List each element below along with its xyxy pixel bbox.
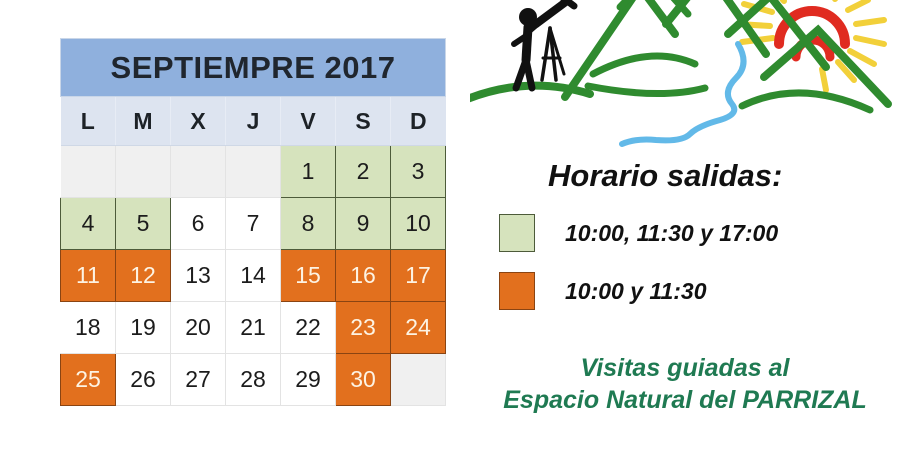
calendar-day-1[interactable]: 1 [281,146,336,198]
legend-label-green: 10:00, 11:30 y 17:00 [565,220,778,247]
legend-item-orange: 10:00 y 11:30 [499,272,707,310]
calendar-dayofweek-4: V [281,97,336,146]
calendar-day-27[interactable]: 27 [171,354,226,406]
month-title-text: SEPTIEMPRE 2017 [111,50,396,85]
mountains-river-sun-observer-logo [470,0,900,147]
visit-caption: Visitas guiadas al Espacio Natural del P… [470,352,900,416]
calendar-day-7[interactable]: 7 [226,198,281,250]
calendar-day-24[interactable]: 24 [391,302,446,354]
legend-swatch-orange-icon [499,272,535,310]
schedule-heading: Horario salidas: [548,158,782,194]
calendar-day-25[interactable]: 25 [61,354,116,406]
calendar-day-19[interactable]: 19 [116,302,171,354]
calendar-week-row: 252627282930 [61,354,446,406]
calendar-day-empty [391,354,446,406]
calendar-day-26[interactable]: 26 [116,354,171,406]
calendar-dayofweek-5: S [336,97,391,146]
calendar-week-row: 18192021222324 [61,302,446,354]
calendar-title-row: SEPTIEMPRE 2017 [61,39,446,97]
observer-with-telescope-icon [514,0,574,88]
calendar-day-empty [226,146,281,198]
calendar-day-6[interactable]: 6 [171,198,226,250]
calendar-day-9[interactable]: 9 [336,198,391,250]
calendar-day-13[interactable]: 13 [171,250,226,302]
visit-caption-line2: Espacio Natural del PARRIZAL [470,384,900,416]
calendar-day-11[interactable]: 11 [61,250,116,302]
calendar-day-29[interactable]: 29 [281,354,336,406]
calendar-dayofweek-3: J [226,97,281,146]
calendar-day-4[interactable]: 4 [61,198,116,250]
legend-item-green: 10:00, 11:30 y 17:00 [499,214,778,252]
calendar-day-empty [61,146,116,198]
calendar-weeks: 1234567891011121314151617181920212223242… [61,146,446,406]
calendar-day-10[interactable]: 10 [391,198,446,250]
calendar-table: SEPTIEMPRE 2017 LMXJVSD 1234567891011121… [60,38,446,406]
legend-label-orange: 10:00 y 11:30 [565,278,707,305]
calendar-day-23[interactable]: 23 [336,302,391,354]
calendar-day-21[interactable]: 21 [226,302,281,354]
calendar-day-empty [116,146,171,198]
calendar-day-12[interactable]: 12 [116,250,171,302]
calendar-day-16[interactable]: 16 [336,250,391,302]
calendar-dayofweek-6: D [391,97,446,146]
visit-caption-line1: Visitas guiadas al [581,354,790,382]
calendar-day-28[interactable]: 28 [226,354,281,406]
calendar-dayofweek-1: M [116,97,171,146]
calendar-day-20[interactable]: 20 [171,302,226,354]
calendar-day-14[interactable]: 14 [226,250,281,302]
calendar-day-18[interactable]: 18 [61,302,116,354]
calendar-dayofweek-0: L [61,97,116,146]
calendar-dayofweek-2: X [171,97,226,146]
calendar-day-15[interactable]: 15 [281,250,336,302]
calendar-day-30[interactable]: 30 [336,354,391,406]
calendar-panel: SEPTIEMPRE 2017 LMXJVSD 1234567891011121… [60,38,446,406]
calendar-month-title: SEPTIEMPRE 2017 [61,39,446,97]
calendar-week-row: 45678910 [61,198,446,250]
calendar-day-empty [171,146,226,198]
calendar-week-row: 11121314151617 [61,250,446,302]
legend-swatch-green-icon [499,214,535,252]
calendar-day-17[interactable]: 17 [391,250,446,302]
calendar-day-3[interactable]: 3 [391,146,446,198]
calendar-day-22[interactable]: 22 [281,302,336,354]
calendar-day-2[interactable]: 2 [336,146,391,198]
calendar-day-8[interactable]: 8 [281,198,336,250]
calendar-dayofweek-row: LMXJVSD [61,97,446,146]
calendar-week-row: 123 [61,146,446,198]
calendar-day-5[interactable]: 5 [116,198,171,250]
